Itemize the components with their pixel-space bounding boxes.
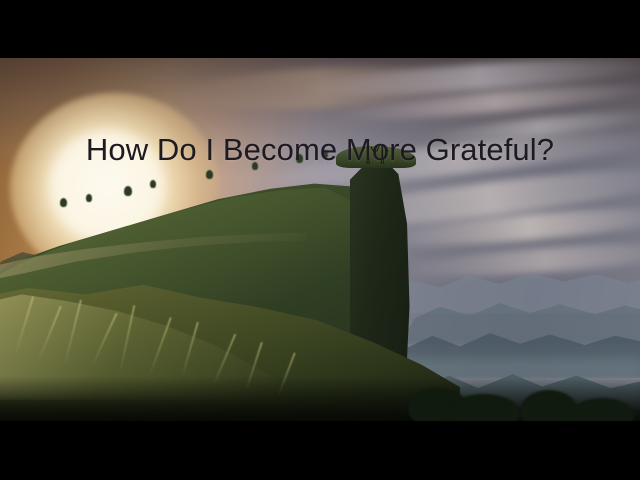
- video-frame: How Do I Become More Grateful? Monday Mo…: [0, 0, 640, 480]
- tree: [150, 180, 156, 188]
- video-title-overlay: How Do I Become More Grateful?: [0, 132, 640, 168]
- tree: [86, 194, 92, 202]
- letterbox-bar-bottom: [0, 421, 640, 480]
- tree: [60, 198, 67, 207]
- tree: [124, 186, 132, 196]
- background-photograph: How Do I Become More Grateful? Monday Mo…: [0, 58, 640, 421]
- tree: [206, 170, 213, 179]
- letterbox-bar-top: [0, 0, 640, 58]
